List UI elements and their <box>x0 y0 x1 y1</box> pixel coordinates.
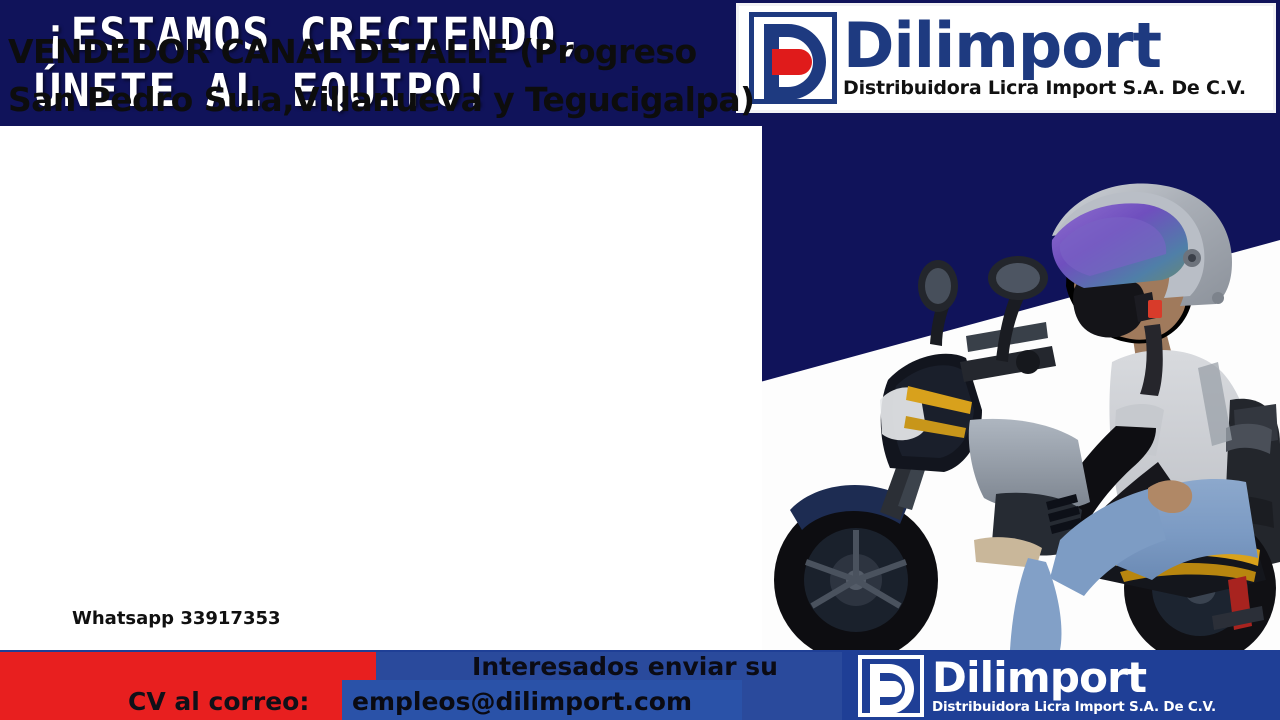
job-title-line-1: VENDEDOR CANAL DETALLE (Progreso <box>8 28 798 76</box>
footer-call-to-action: Interesados enviar su <box>440 650 810 684</box>
job-details-panel <box>0 126 762 650</box>
brand-name: Dilimport <box>843 16 1161 76</box>
job-title-line-2: San Pedro Sula,Villanueva y Tegucigalpa) <box>8 76 798 124</box>
brand-text-block-footer: Dilimport Distribuidora Licra Import S.A… <box>924 657 1278 716</box>
brand-tagline-footer: Distribuidora Licra Import S.A. De C.V. <box>932 699 1278 716</box>
brand-logo-footer: Dilimport Distribuidora Licra Import S.A… <box>858 652 1278 720</box>
dilimport-d-icon-footer <box>858 655 924 717</box>
motorcycle-rider-photo <box>760 110 1280 650</box>
brand-logo-header: Dilimport Distribuidora Licra Import S.A… <box>736 3 1276 113</box>
brand-text-block: Dilimport Distribuidora Licra Import S.A… <box>837 16 1265 100</box>
whatsapp-contact: Whatsapp 33917353 <box>72 608 281 629</box>
brand-name-footer: Dilimport <box>932 657 1278 699</box>
d-accent-icon-footer <box>876 681 902 697</box>
job-posting-poster: ¡ESTAMOS CRECIENDO, ÚNETE AL EQUIPO! Dil… <box>0 0 1280 720</box>
footer-email-address[interactable]: empleos@dilimport.com <box>352 686 692 718</box>
footer-cv-label: CV al correo: <box>128 686 309 718</box>
rider-illustration <box>760 110 1280 650</box>
job-title: VENDEDOR CANAL DETALLE (Progreso San Ped… <box>8 28 798 124</box>
brand-tagline: Distribuidora Licra Import S.A. De C.V. <box>843 76 1246 100</box>
